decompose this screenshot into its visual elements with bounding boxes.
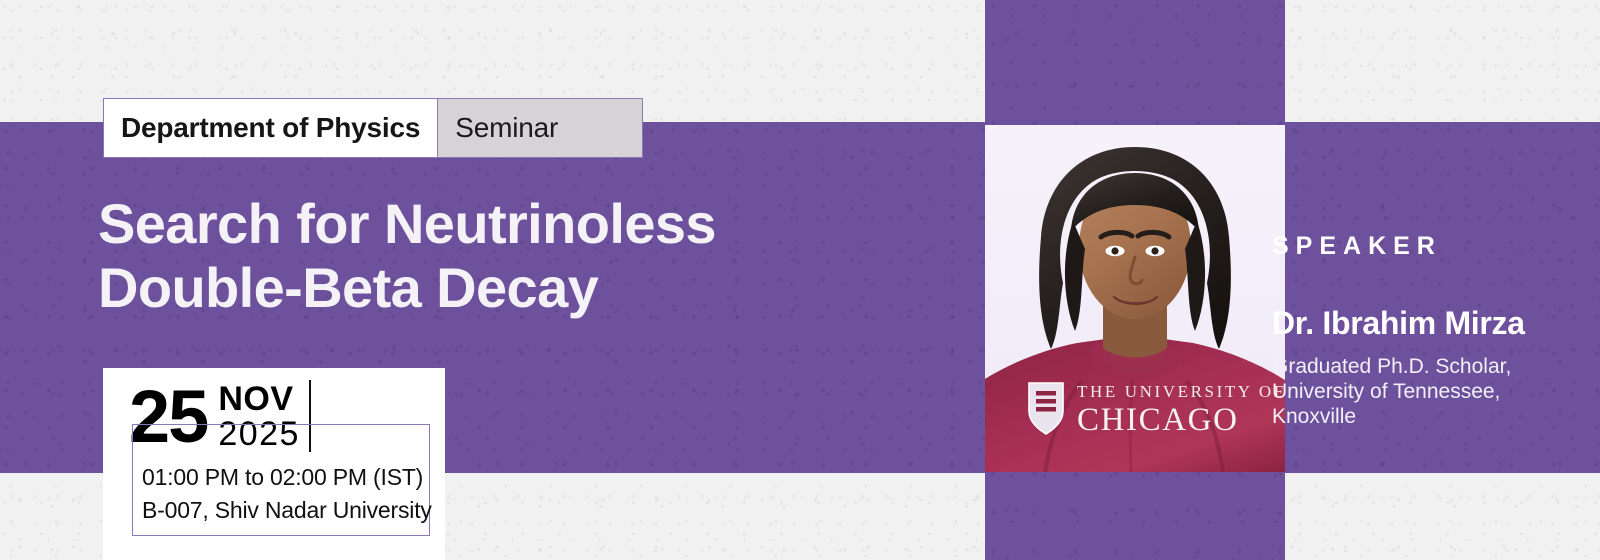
header-chip-row: Department of Physics Seminar xyxy=(103,98,643,158)
date-card: 25 NOV 2025 01:00 PM to 02:00 PM (IST) B… xyxy=(103,368,445,560)
affiliation-line-2: University of Tennessee, xyxy=(1272,379,1572,404)
event-type-label: Seminar xyxy=(455,112,558,144)
speaker-portrait-illustration: THE UNIVERSITY OF CHICAGO xyxy=(985,125,1285,472)
title-line-2: Double-Beta Decay xyxy=(98,256,858,320)
svg-text:THE UNIVERSITY OF: THE UNIVERSITY OF xyxy=(1077,382,1285,401)
department-chip: Department of Physics xyxy=(103,98,437,158)
speaker-block: SPEAKER Dr. Ibrahim Mirza Graduated Ph.D… xyxy=(1272,232,1572,429)
speaker-kicker: SPEAKER xyxy=(1272,232,1572,261)
event-time: 01:00 PM to 02:00 PM (IST) xyxy=(142,461,432,494)
speaker-affiliation: Graduated Ph.D. Scholar, University of T… xyxy=(1272,354,1572,429)
affiliation-line-1: Graduated Ph.D. Scholar, xyxy=(1272,354,1572,379)
title-line-1: Search for Neutrinoless xyxy=(98,192,858,256)
event-type-chip: Seminar xyxy=(437,98,643,158)
event-venue: B-007, Shiv Nadar University xyxy=(142,494,432,527)
speaker-name: Dr. Ibrahim Mirza xyxy=(1272,305,1572,342)
date-month: NOV xyxy=(218,382,300,416)
affiliation-line-3: Knoxville xyxy=(1272,404,1572,429)
speaker-photo: THE UNIVERSITY OF CHICAGO xyxy=(985,125,1285,472)
seminar-poster: THE UNIVERSITY OF CHICAGO Department of … xyxy=(0,0,1600,560)
date-detail-text: 01:00 PM to 02:00 PM (IST) B-007, Shiv N… xyxy=(142,461,432,527)
department-label: Department of Physics xyxy=(121,112,420,144)
seminar-title: Search for Neutrinoless Double-Beta Deca… xyxy=(98,192,858,320)
svg-text:CHICAGO: CHICAGO xyxy=(1077,402,1239,438)
